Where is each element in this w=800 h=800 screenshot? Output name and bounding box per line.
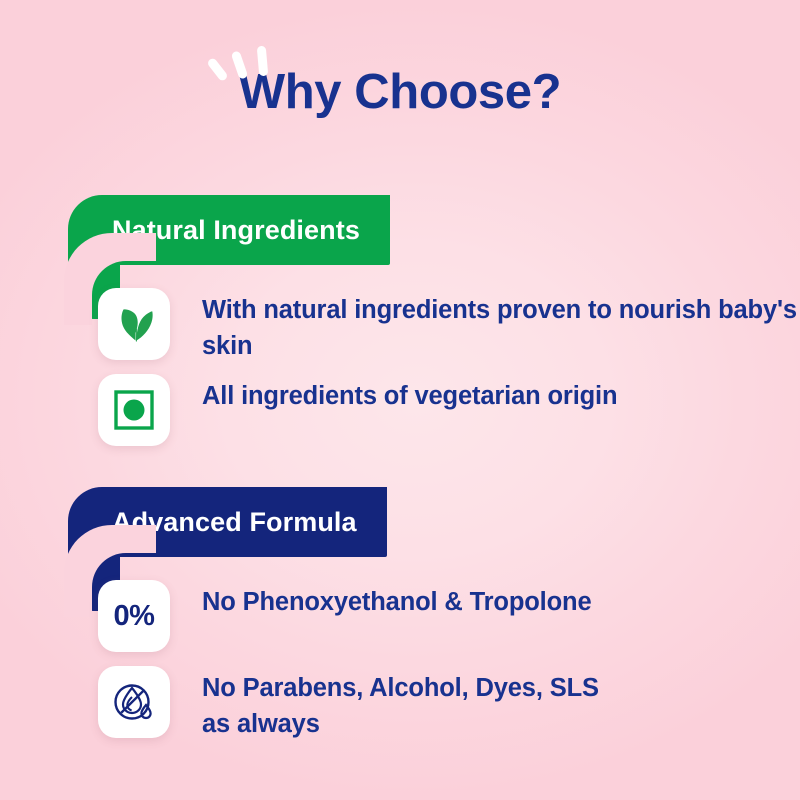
vegetarian-mark-icon [98,374,170,446]
page-header: Why Choose? [0,68,800,117]
banner-pill: Advanced Formula [68,487,387,557]
zero-percent-label: 0% [114,600,155,633]
sparkle-tick-3 [257,46,269,77]
sparkle-ticks-icon [211,46,281,80]
banner-pill: Natural Ingredients [68,195,390,265]
feature-text: With natural ingredients proven to nouri… [202,288,800,364]
banner-label: Advanced Formula [68,507,387,538]
feature-text: No Phenoxyethanol & Tropolone [202,580,592,620]
why-choose-poster: Why Choose? Natural Ingredients With nat… [0,0,800,800]
feature-text: All ingredients of vegetarian origin [202,374,617,414]
no-water-drop-icon [98,666,170,738]
feature-item-no-parabens: No Parabens, Alcohol, Dyes, SLS as alway… [98,666,632,742]
feature-item-natural-ingredients: With natural ingredients proven to nouri… [98,288,800,364]
feature-item-vegetarian: All ingredients of vegetarian origin [98,374,617,446]
page-title: Why Choose? [0,68,800,117]
feature-text: No Parabens, Alcohol, Dyes, SLS as alway… [202,666,632,742]
banner-label: Natural Ingredients [68,215,390,246]
sparkle-tick-2 [231,50,249,79]
zero-percent-icon: 0% [98,580,170,652]
leaves-icon [98,288,170,360]
feature-item-no-phenoxyethanol: 0% No Phenoxyethanol & Tropolone [98,580,592,652]
